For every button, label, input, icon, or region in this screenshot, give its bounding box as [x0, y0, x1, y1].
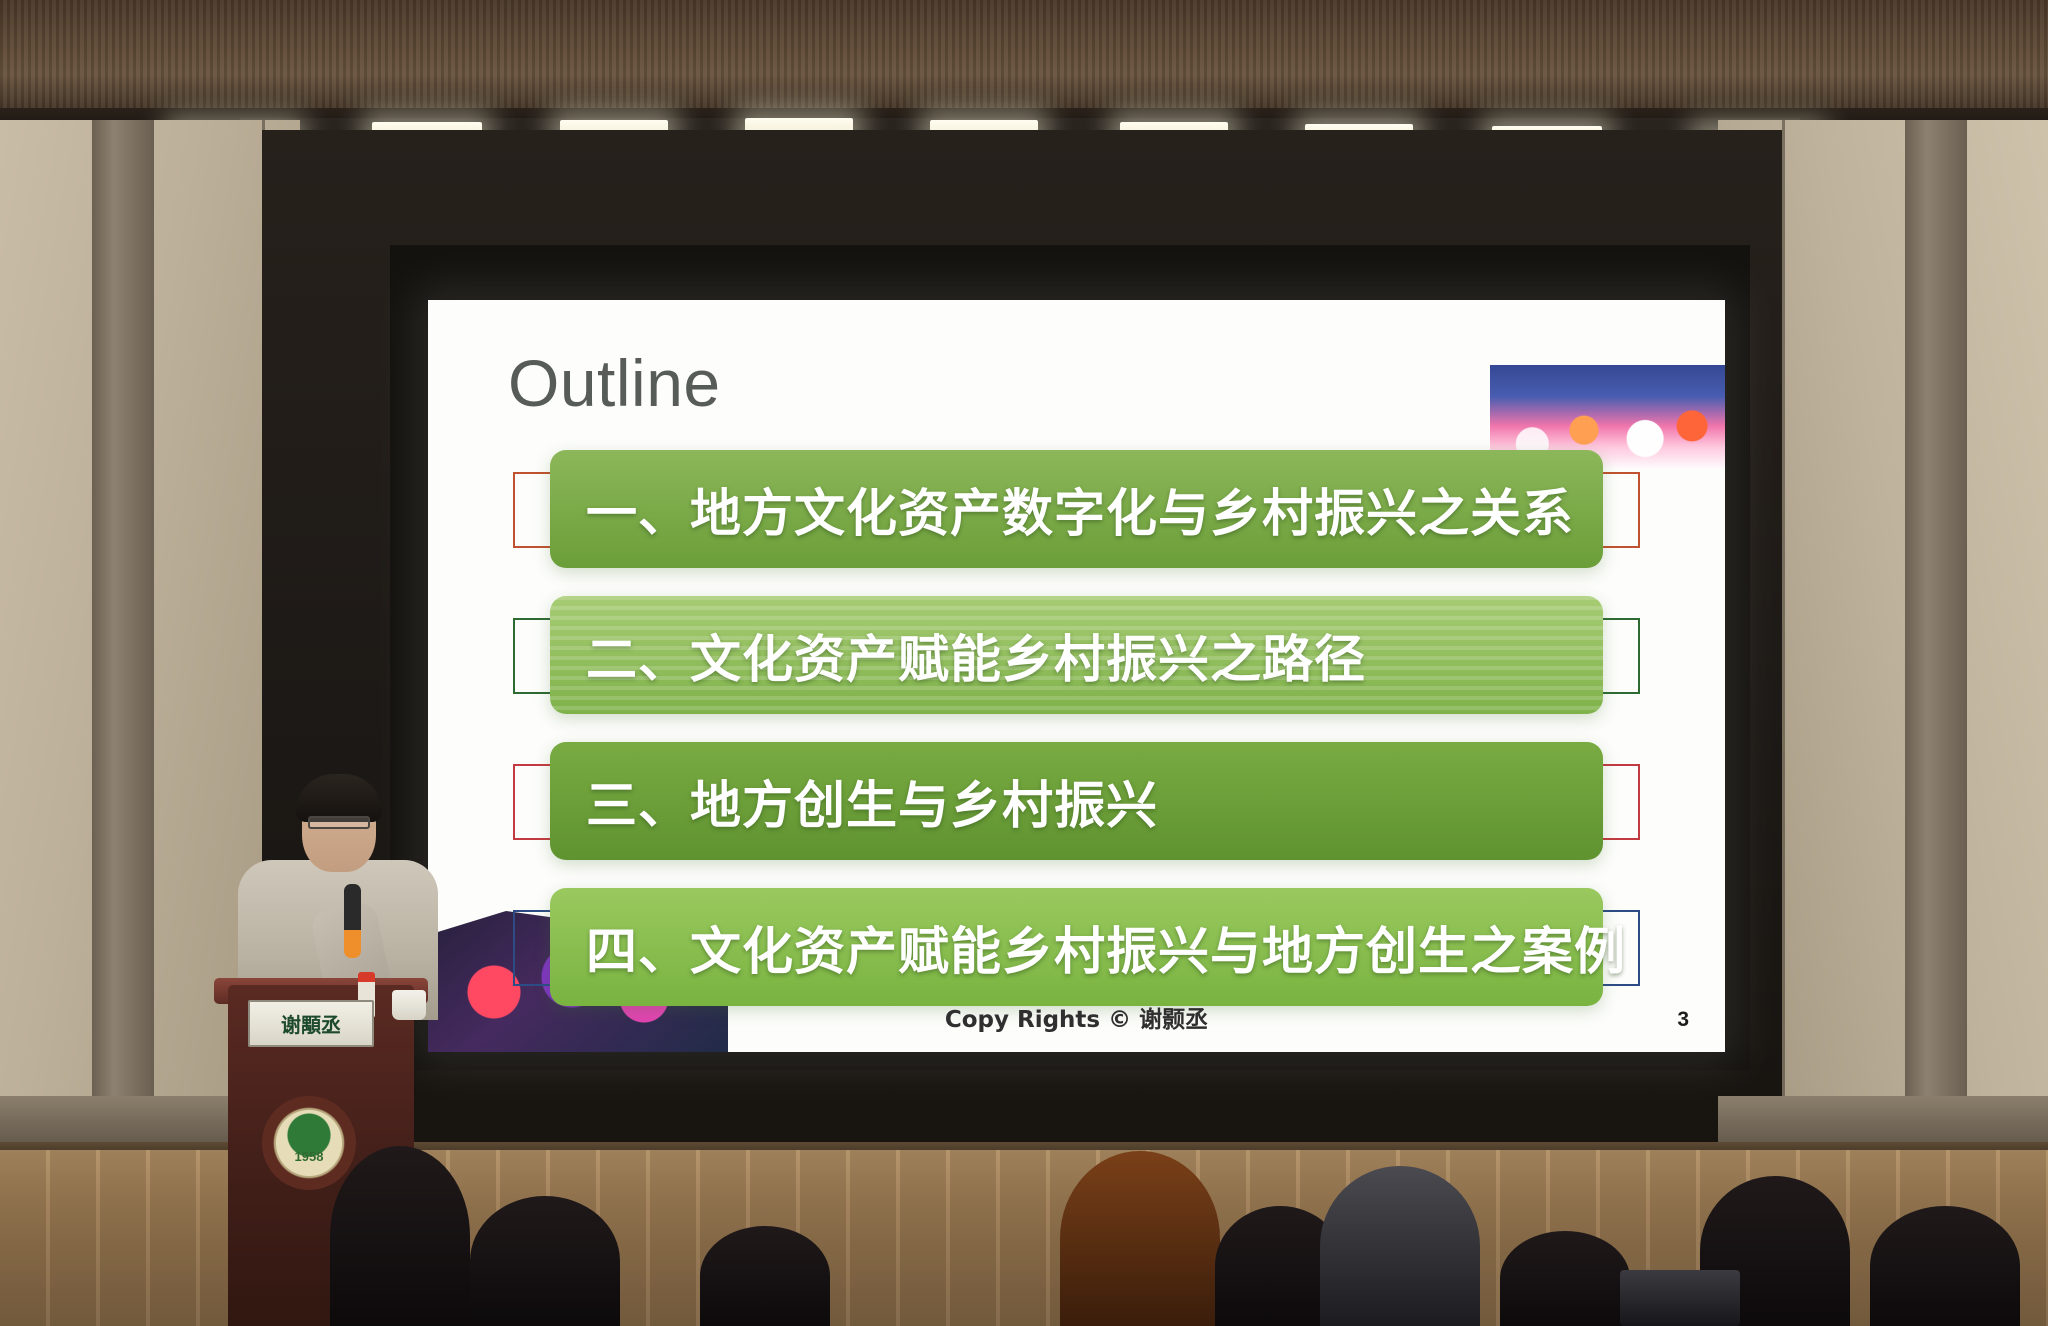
- speaker-nameplate: 谢顒丞: [248, 1000, 374, 1047]
- audience-member: [330, 1146, 470, 1326]
- audience-member: [1870, 1206, 2020, 1326]
- microphone-icon: [344, 884, 361, 958]
- list-item[interactable]: 三、地方创生与乡村振兴: [428, 742, 1725, 862]
- emblem-year: 1958: [276, 1149, 342, 1164]
- outline-bar-label: 一、地方文化资产数字化与乡村振兴之关系: [586, 472, 1574, 546]
- list-item[interactable]: 一、地方文化资产数字化与乡村振兴之关系: [428, 450, 1725, 570]
- university-emblem-icon: 1958: [262, 1096, 356, 1190]
- audience-member: [700, 1226, 830, 1326]
- speaker-nameplate-text: 谢顒丞: [281, 1009, 341, 1038]
- presentation-slide: Outline 一、地方文化资产数字化与乡村振兴之关系 二、文化资产赋能乡村振兴…: [428, 300, 1725, 1052]
- outline-list: 一、地方文化资产数字化与乡村振兴之关系 二、文化资产赋能乡村振兴之路径 三、地方…: [428, 450, 1725, 1034]
- outline-bar[interactable]: 一、地方文化资产数字化与乡村振兴之关系: [550, 450, 1603, 568]
- audience-member: [1500, 1231, 1630, 1326]
- slide-page-number: 3: [1677, 1008, 1689, 1032]
- audience-member: [470, 1196, 620, 1326]
- page-title: Outline: [508, 345, 721, 421]
- lecture-hall-scene: Outline 一、地方文化资产数字化与乡村振兴之关系 二、文化资产赋能乡村振兴…: [0, 0, 2048, 1326]
- speaker-hair: [296, 774, 382, 822]
- ceiling-wood-panel: [0, 0, 2048, 120]
- glasses-icon: [308, 816, 370, 829]
- outline-bar[interactable]: 二、文化资产赋能乡村振兴之路径: [550, 596, 1603, 714]
- outline-bar[interactable]: 四、文化资产赋能乡村振兴与地方创生之案例: [550, 888, 1603, 1006]
- audience-member: [1320, 1166, 1480, 1326]
- outline-bar-label: 二、文化资产赋能乡村振兴之路径: [586, 618, 1366, 692]
- wall-pillar-left: [92, 120, 154, 1180]
- laptop: [1620, 1270, 1740, 1326]
- copyright-footer: Copy Rights © 谢颢丞: [428, 1000, 1725, 1034]
- wall-pillar-right: [1905, 120, 1967, 1180]
- emblem-inner: 1958: [276, 1110, 342, 1176]
- audience-member: [1060, 1151, 1220, 1326]
- paper-cup: [392, 990, 426, 1020]
- list-item[interactable]: 二、文化资产赋能乡村振兴之路径: [428, 596, 1725, 716]
- list-item[interactable]: 四、文化资产赋能乡村振兴与地方创生之案例: [428, 888, 1725, 1008]
- wall-seam-right: [1782, 120, 1785, 1180]
- outline-bar[interactable]: 三、地方创生与乡村振兴: [550, 742, 1603, 860]
- outline-bar-label: 三、地方创生与乡村振兴: [586, 764, 1158, 838]
- speaker-person: [232, 780, 442, 1010]
- outline-bar-label: 四、文化资产赋能乡村振兴与地方创生之案例: [586, 910, 1626, 984]
